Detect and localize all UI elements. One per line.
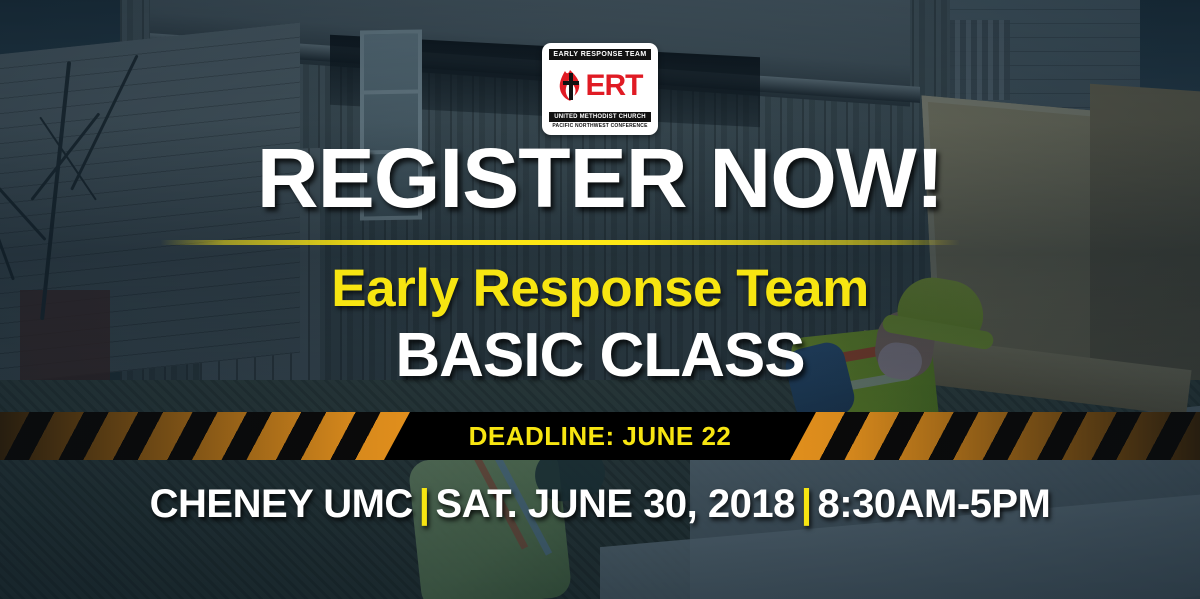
flame-cross-icon [558, 69, 584, 103]
event-details-line: CHENEY UMC|SAT. JUNE 30, 2018|8:30AM-5PM [0, 484, 1200, 524]
yellow-divider-rule [160, 240, 960, 245]
deadline-plate: DEADLINE: JUNE 22 [384, 412, 816, 460]
banner-content: EARLY RESPONSE TEAM ERT UNITED METHODIST… [0, 0, 1200, 599]
ert-registration-banner: EARLY RESPONSE TEAM ERT UNITED METHODIST… [0, 0, 1200, 599]
headline: REGISTER NOW! [0, 136, 1200, 220]
subtitle: Early Response Team [0, 262, 1200, 315]
logo-top-label: EARLY RESPONSE TEAM [549, 49, 651, 60]
event-location: CHENEY UMC [150, 482, 413, 526]
logo-denomination-label: UNITED METHODIST CHURCH [549, 112, 651, 122]
separator-2: | [795, 482, 818, 526]
event-time: 8:30AM-5PM [818, 482, 1051, 526]
event-date: SAT. JUNE 30, 2018 [436, 482, 795, 526]
logo-conference-label: PACIFIC NORTHWEST CONFERENCE [549, 122, 651, 129]
logo-acronym: ERT [586, 71, 643, 101]
ert-logo: EARLY RESPONSE TEAM ERT UNITED METHODIST… [542, 43, 658, 135]
class-title: BASIC CLASS [0, 325, 1200, 387]
deadline-text: DEADLINE: JUNE 22 [469, 423, 732, 449]
separator-1: | [413, 482, 436, 526]
logo-mark: ERT [549, 60, 651, 112]
